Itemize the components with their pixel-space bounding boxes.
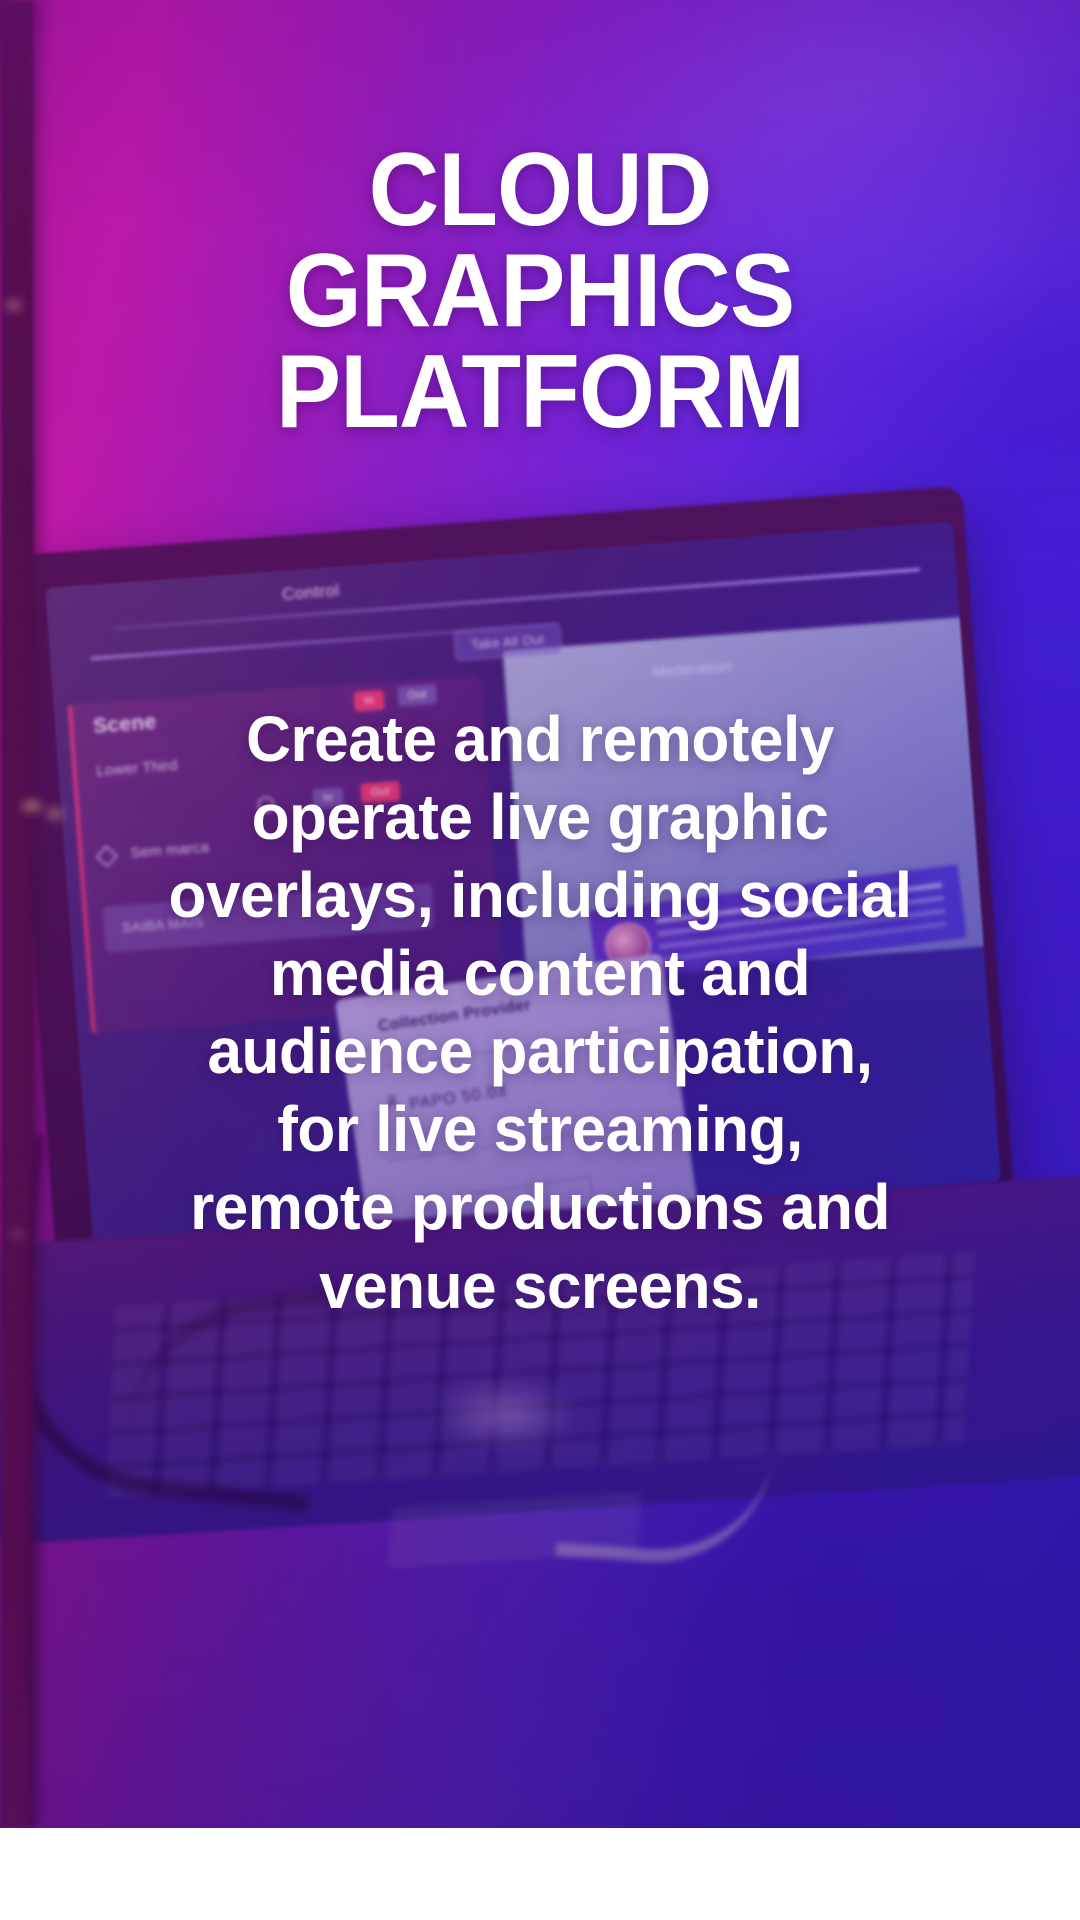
page-title: CLOUD GRAPHICS PLATFORM (32, 140, 1047, 443)
promo-hero-stage: Collection Provider PAPO 50.03 Control T… (0, 0, 1080, 1920)
hero-description: Create and remotely operate live graphic… (63, 700, 1017, 1325)
bottom-white-band (0, 1828, 1080, 1920)
